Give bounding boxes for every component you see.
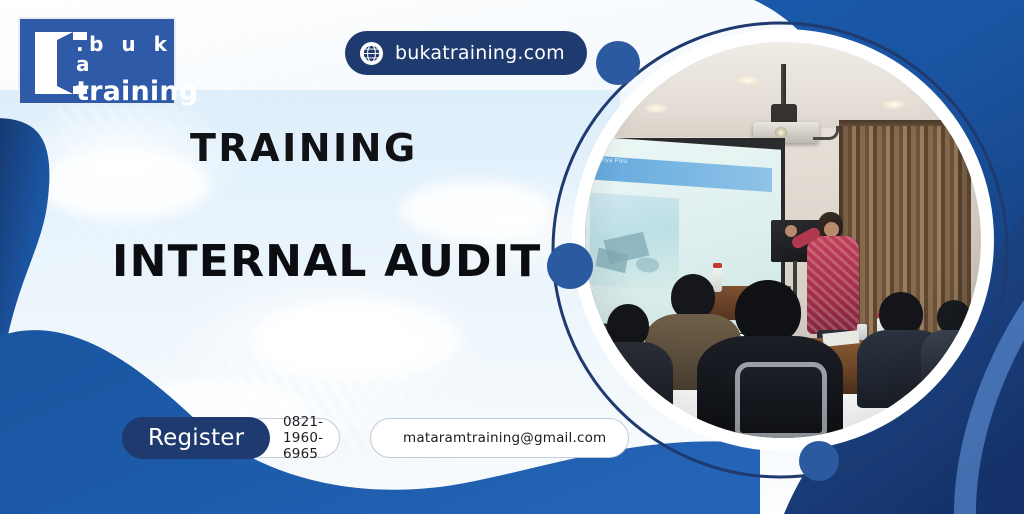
- email-chip[interactable]: mataramtraining@gmail.com: [370, 418, 629, 458]
- phone-text: 0821-1960-6965: [283, 414, 323, 462]
- decorative-circle: [596, 41, 640, 85]
- training-photo: Alinya Pasi: [585, 42, 981, 438]
- promotional-banner: Alinya Pasi: [0, 0, 1024, 514]
- register-button-label: Register: [148, 425, 244, 451]
- page-title: INTERNAL AUDIT: [112, 236, 542, 287]
- globe-icon: [359, 41, 384, 66]
- logo-line-2: training: [76, 78, 174, 106]
- logo-line-1: .b u k a: [76, 34, 174, 74]
- website-badge[interactable]: bukatraining.com: [345, 31, 587, 75]
- buka-training-logo[interactable]: .b u k a training: [18, 17, 176, 105]
- training-photo-frame: Alinya Pasi: [585, 42, 981, 438]
- register-button[interactable]: Register: [122, 417, 270, 459]
- email-text: mataramtraining@gmail.com: [403, 430, 606, 446]
- eyebrow-title: TRAINING: [190, 126, 418, 170]
- decorative-circle: [799, 441, 839, 481]
- website-url: bukatraining.com: [395, 42, 565, 64]
- decorative-circle: [547, 243, 593, 289]
